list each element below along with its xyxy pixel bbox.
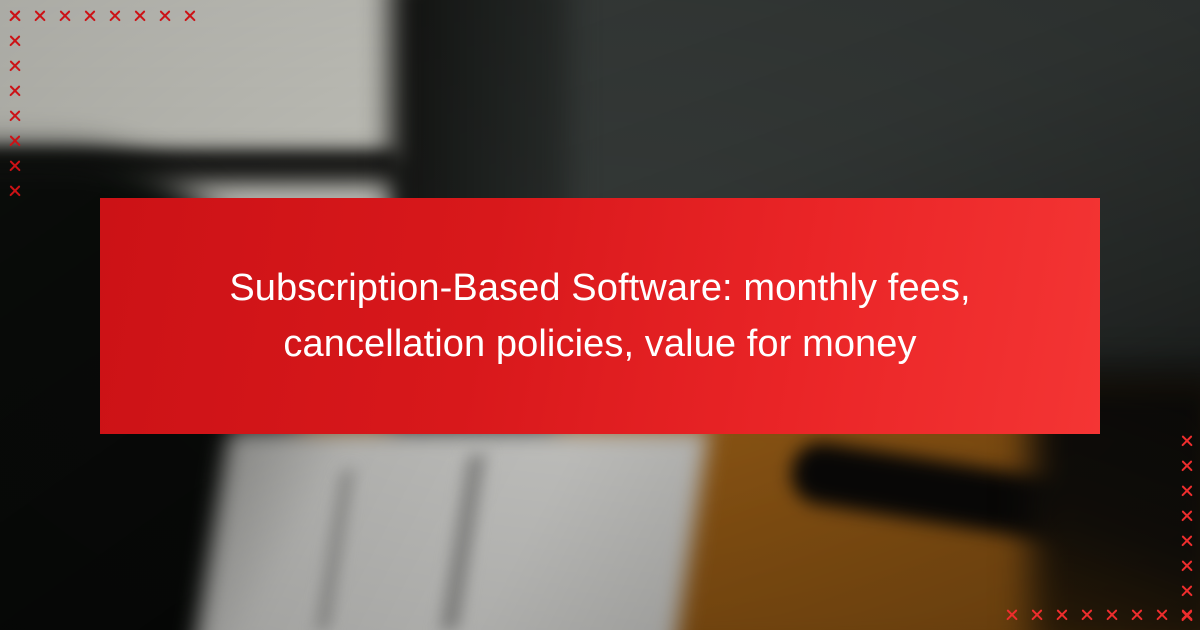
social-share-card: Subscription-Based Software: monthly fee…: [0, 0, 1200, 630]
title-banner: Subscription-Based Software: monthly fee…: [100, 198, 1100, 434]
page-title: Subscription-Based Software: monthly fee…: [210, 260, 990, 372]
